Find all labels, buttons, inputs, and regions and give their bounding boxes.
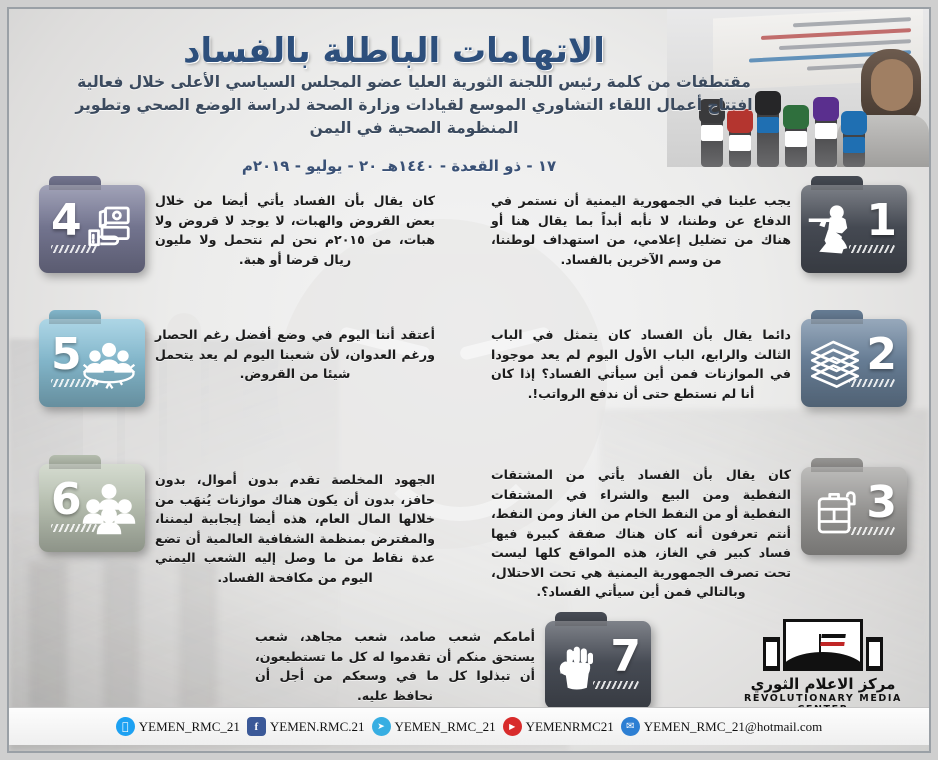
card-number: 6 [51, 478, 82, 522]
folder-badge-3: 3 [801, 467, 907, 555]
card-text: أعتقد أننا اليوم في وضع أفضل رغم الحصار … [145, 319, 439, 384]
statement-card-4: 4 كان يقال بأن الفساد يأتي أيضا من خلال … [39, 185, 439, 273]
people-group-icon [81, 480, 137, 536]
card-text: يجب علينا في الجمهورية اليمنية أن نستمر … [487, 185, 801, 269]
social-handle: YEMEN_RMC_21@hotmail.com [644, 719, 822, 735]
social-twitter[interactable]:  YEMEN_RMC_21 [116, 717, 240, 736]
social-facebook[interactable]: f YEMEN.RMC.21 [247, 717, 365, 736]
social-handle: YEMENRMC21 [526, 719, 614, 735]
film-strip-flag-icon [735, 619, 911, 671]
youtube-icon[interactable]: ▶ [503, 717, 522, 736]
card-text: كان يقال بأن الفساد يأتي من المشتقات الن… [487, 459, 801, 602]
card-number: 2 [866, 333, 897, 377]
logo-english-line1: REVOLUTIONARY MEDIA [735, 693, 911, 704]
card-text: أمامكم شعب صامد، شعب مجاهد، شعب يستحق من… [251, 621, 545, 705]
page-title: الاتهامات الباطلة بالفساد [9, 31, 929, 71]
infographic-poster: الاتهامات الباطلة بالفساد مقتطفات من كلم… [0, 0, 938, 760]
poster-frame: الاتهامات الباطلة بالفساد مقتطفات من كلم… [7, 7, 931, 753]
card-text: دائما يقال بأن الفساد كان يتمثل في الباب… [487, 319, 801, 403]
card-number: 5 [51, 333, 82, 377]
social-handle: YEMEN_RMC_21 [139, 719, 240, 735]
fuel-can-icon [807, 483, 863, 539]
telegram-icon[interactable]: ➤ [372, 717, 391, 736]
money-stack-icon [807, 335, 863, 391]
people-siege-icon [81, 335, 137, 391]
email-icon[interactable]: ✉ [621, 717, 640, 736]
statement-card-3: 3 كان يقال بأن الفساد يأتي من المشتقات ا… [487, 459, 907, 602]
cash-hand-icon [81, 201, 137, 257]
social-handle: YEMEN_RMC_21 [395, 719, 496, 735]
statement-card-7: 7 أمامكم شعب صامد، شعب مجاهد، شعب يستحق … [251, 621, 651, 709]
social-media-bar:  YEMEN_RMC_21 f YEMEN.RMC.21 ➤ YEMEN_RM… [9, 707, 929, 745]
statement-card-6: 6 الجهود المخلصة تقدم بدون أموال، بدون ح… [39, 464, 439, 587]
folder-badge-2: 2 [801, 319, 907, 407]
statement-card-1: 1 يجب علينا في الجمهورية اليمنية أن نستم… [487, 185, 907, 273]
statement-card-5: 5 أعتقد أننا اليوم في وضع أفضل رغم الح [39, 319, 439, 407]
raised-fist-icon [551, 637, 607, 693]
folder-badge-1: 1 [801, 185, 907, 273]
social-telegram[interactable]: ➤ YEMEN_RMC_21 [372, 717, 496, 736]
card-number: 4 [51, 199, 82, 243]
card-text: كان يقال بأن الفساد يأتي أيضا من خلال بع… [145, 185, 439, 269]
folder-badge-6: 6 [39, 464, 145, 552]
poster-header: الاتهامات الباطلة بالفساد مقتطفات من كلم… [9, 9, 929, 169]
organization-logo: مركز الاعلام الثوري REVOLUTIONARY MEDIA … [735, 619, 911, 715]
card-number: 7 [610, 635, 641, 679]
folder-badge-5: 5 [39, 319, 145, 407]
twitter-icon[interactable]:  [116, 717, 135, 736]
facebook-icon[interactable]: f [247, 717, 266, 736]
page-subtitle: مقتطفات من كلمة رئيس اللجنة الثورية العل… [9, 71, 929, 140]
soldier-icon [807, 201, 863, 257]
publication-date: ١٧ - ذو القعدة - ١٤٤٠هـ ٢٠ - يوليو - ٢٠١… [9, 157, 929, 175]
card-number: 1 [866, 199, 897, 243]
card-number: 3 [866, 481, 897, 525]
statement-card-2: 2 دائما يقال بأن الفساد كان يتمثل في الب… [487, 319, 907, 407]
social-email[interactable]: ✉ YEMEN_RMC_21@hotmail.com [621, 717, 822, 736]
folder-badge-4: 4 [39, 185, 145, 273]
social-handle: YEMEN.RMC.21 [270, 719, 365, 735]
social-youtube[interactable]: ▶ YEMENRMC21 [503, 717, 614, 736]
logo-arabic-name: مركز الاعلام الثوري [735, 675, 911, 693]
card-text: الجهود المخلصة تقدم بدون أموال، بدون حاف… [145, 464, 439, 587]
folder-badge-7: 7 [545, 621, 651, 709]
